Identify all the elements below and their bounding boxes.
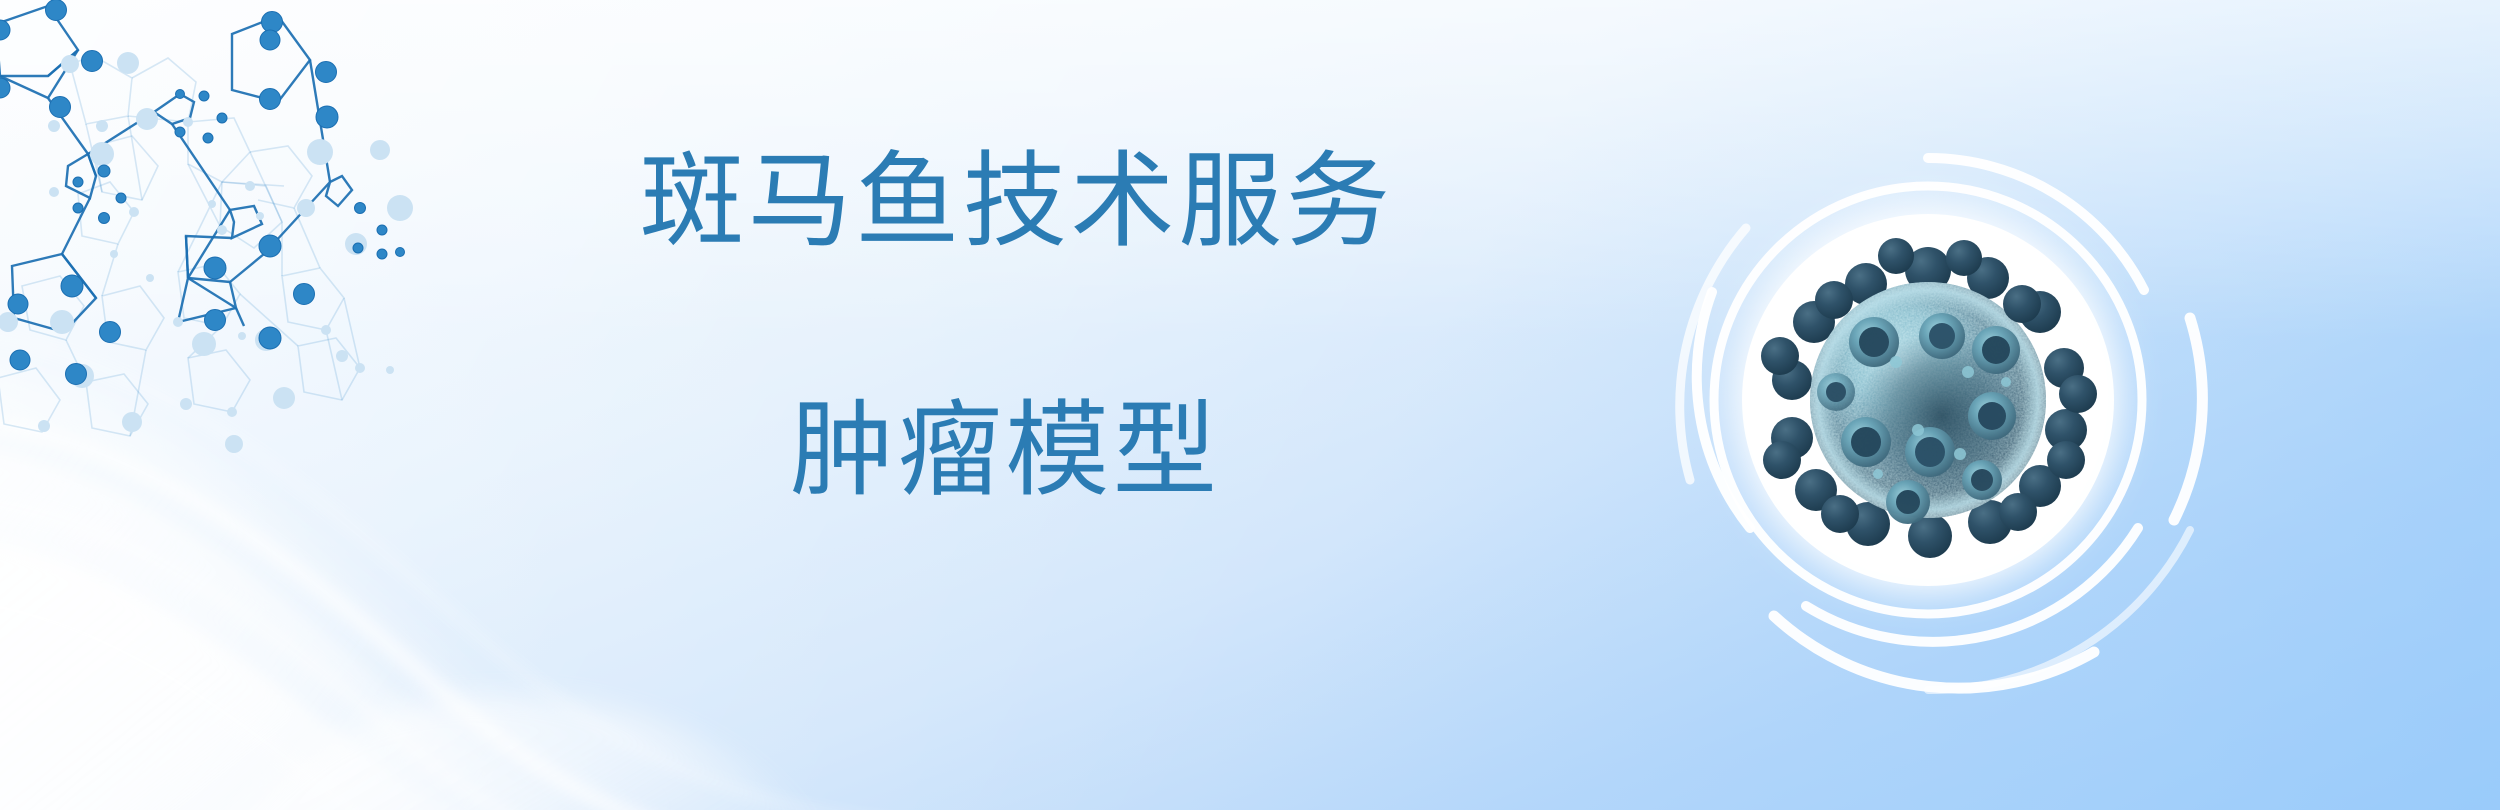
ring-arc-top-right — [1928, 158, 2144, 290]
virus-spikes-back — [1771, 247, 2087, 558]
spike-knob — [1886, 480, 1930, 524]
ring-arc-outer-left — [1680, 228, 1746, 480]
title-block: 斑马鱼技术服务 肿瘤模型 — [600, 150, 1500, 550]
ring-arc-left — [1697, 292, 1750, 528]
silk-band-front — [0, 537, 700, 810]
spike-knob — [1849, 317, 1899, 367]
ring-arc-bottom — [1806, 528, 2138, 642]
spike-stalks — [1873, 356, 2011, 479]
spike-knob — [1919, 313, 1965, 359]
page-subtitle: 肿瘤模型 — [600, 399, 1500, 503]
spike-knob — [1817, 373, 1855, 411]
silk-crest — [200, 696, 840, 810]
silk-streak-3 — [0, 597, 740, 810]
banner-root: 斑马鱼技术服务 肿瘤模型 — [0, 0, 2500, 810]
virus-composition — [1578, 50, 2278, 750]
spike-knob — [1841, 417, 1891, 467]
spike-knob — [1962, 460, 2002, 500]
ring-arc-outer-bottom — [1774, 616, 2094, 688]
molecular-network-graphic — [0, 0, 452, 486]
white-halo-disc — [1720, 192, 2136, 608]
network-links-faint — [0, 56, 360, 436]
spike-knob — [1968, 392, 2016, 440]
network-nodes-light — [0, 52, 413, 453]
spike-knob — [1972, 326, 2020, 374]
ring-arc-outer-right — [2174, 318, 2202, 520]
page-title: 斑马鱼技术服务 — [600, 150, 1500, 254]
ring-inner-solid — [1714, 186, 2142, 614]
network-nodes-dark — [0, 0, 405, 385]
spike-knob — [1905, 427, 1955, 477]
ring-group — [1680, 158, 2203, 690]
ring-arc-far-bottom — [1928, 530, 2190, 690]
virus-spikes-front — [1817, 313, 2020, 524]
network-links-bold — [0, 6, 352, 332]
halo-core — [1742, 214, 2114, 586]
virus-spikes-rim — [1761, 238, 2097, 533]
virus-body — [1810, 282, 2046, 518]
